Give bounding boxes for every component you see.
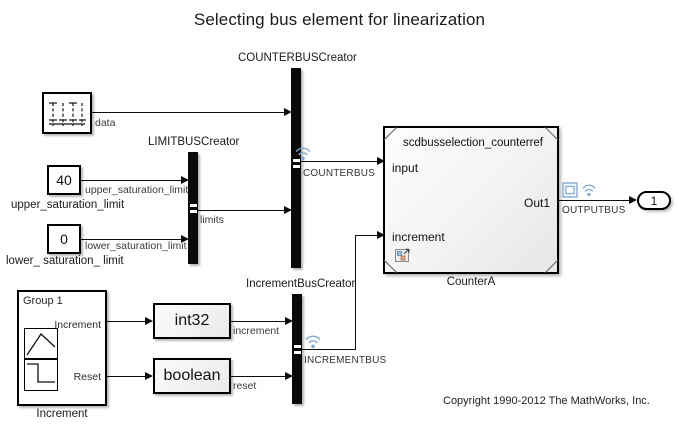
- boolean-block[interactable]: boolean: [153, 358, 231, 394]
- linearization-point-icon-outputbus[interactable]: [580, 182, 598, 199]
- data-source-block[interactable]: [42, 92, 92, 134]
- signal-label-reset: reset: [233, 380, 256, 392]
- upper-saturation-limit-name: upper_saturation_limit: [11, 199, 124, 211]
- pulse-generator-icon: [44, 94, 90, 132]
- signal-line-outputbus: [559, 200, 633, 201]
- int32-block[interactable]: int32: [153, 303, 231, 339]
- copyright-text: Copyright 1990-2012 The MathWorks, Inc.: [443, 395, 650, 407]
- signal-line-limits: [198, 210, 286, 211]
- signal-line-reset: [231, 376, 288, 377]
- signal-label-limits: limits: [200, 214, 224, 226]
- step-waveform-icon: [25, 360, 57, 390]
- outport-block[interactable]: 1: [637, 191, 671, 210]
- signal-line-sb-out2: [107, 376, 147, 377]
- increment-bus-creator-name: IncrementBusCreator: [246, 278, 355, 290]
- upper-saturation-limit-value: 40: [49, 167, 79, 193]
- limit-bus-creator-block[interactable]: [188, 152, 198, 264]
- model-reference-increment-port-label: increment: [392, 230, 445, 244]
- outport-label: 1: [651, 194, 658, 208]
- signal-arrow-outputbus: [629, 196, 637, 204]
- signal-builder-group-label: Group 1: [23, 295, 63, 307]
- signal-arrow-sb-out2: [145, 372, 153, 380]
- limit-bus-output-port-2: [189, 209, 198, 214]
- signal-label-lower-sat: lower_saturation_limit: [85, 240, 187, 252]
- signal-builder-waveform-top: [24, 328, 58, 359]
- page-title: Selecting bus element for linearization: [0, 10, 679, 30]
- increment-bus-creator-block[interactable]: [292, 294, 302, 404]
- signal-builder-name: Increment: [17, 408, 107, 420]
- signal-label-incrementbus: INCREMENTBUS: [304, 355, 386, 366]
- model-reference-icon: [394, 247, 412, 264]
- model-reference-name: CounterA: [383, 276, 559, 288]
- signal-label-upper-sat: upper_saturation_limit: [85, 184, 188, 196]
- lower-saturation-limit-block[interactable]: 0: [47, 224, 81, 254]
- triangle-waveform-icon: [25, 329, 57, 358]
- signal-label-counterbus: COUNTERBUS: [303, 168, 375, 179]
- linearization-io-point-icon-outputbus[interactable]: [562, 182, 578, 198]
- model-canvas: Selecting bus element for linearization …: [0, 0, 679, 433]
- counter-bus-creator-block[interactable]: [291, 68, 301, 268]
- model-reference-title: scdbusselection_counterref: [385, 137, 561, 149]
- signal-label-outputbus: OUTPUTBUS: [562, 205, 625, 216]
- limit-bus-output-port: [189, 203, 198, 208]
- signal-arrow-sb-out1: [145, 317, 153, 325]
- notch-bottom-right: [542, 257, 558, 273]
- signal-line-sb-out1: [107, 321, 147, 322]
- limit-bus-creator-name: LIMITBUSCreator: [148, 136, 239, 148]
- signal-builder-waveform-bottom: [24, 359, 58, 391]
- int32-label: int32: [155, 305, 229, 337]
- signal-line-data: [92, 112, 286, 113]
- signal-label-data: data: [95, 117, 115, 129]
- counter-bus-output-port-2: [292, 164, 301, 169]
- lower-saturation-limit-value: 0: [49, 226, 79, 252]
- counter-bus-creator-name: COUNTERBUSCreator: [238, 52, 357, 64]
- signal-line-upper-sat: [81, 180, 183, 181]
- signal-line-incrementbus-h2: [355, 235, 383, 236]
- signal-line-increment: [231, 321, 288, 322]
- signal-label-increment: increment: [233, 325, 279, 337]
- model-reference-out-port-label: Out1: [524, 196, 550, 210]
- signal-line-incrementbus-h1: [302, 349, 356, 350]
- upper-saturation-limit-block[interactable]: 40: [47, 165, 81, 195]
- signal-builder-out2-label: Reset: [74, 371, 101, 383]
- model-reference-block[interactable]: scdbusselection_counterref input increme…: [383, 126, 559, 274]
- increment-bus-output-port: [293, 344, 302, 349]
- signal-builder-out1-label: Increment: [54, 319, 101, 331]
- signal-builder-block[interactable]: Group 1 Increment Reset: [17, 290, 107, 406]
- boolean-label: boolean: [155, 360, 229, 392]
- lower-saturation-limit-name: lower_ saturation_ limit: [6, 255, 124, 267]
- signal-line-counterbus: [301, 161, 381, 162]
- signal-line-incrementbus-v: [355, 235, 356, 350]
- increment-bus-output-port-2: [293, 350, 302, 355]
- model-reference-input-port-label: input: [392, 161, 418, 175]
